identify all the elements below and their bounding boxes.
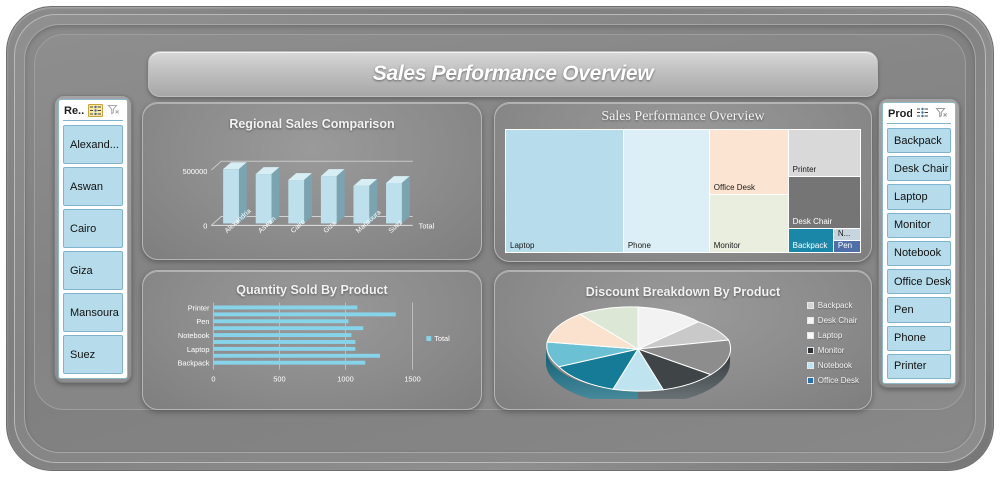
slicer-item-alexandria[interactable]: Alexand... — [63, 125, 123, 164]
legend-row-monitor[interactable]: Monitor — [807, 346, 859, 355]
hbar-office-desk — [213, 326, 363, 330]
hbar-backpack — [213, 361, 365, 365]
slicer-item-giza[interactable]: Giza — [63, 251, 123, 290]
slicer-item-office-desk[interactable]: Office Desk — [887, 269, 951, 294]
slicer-item-backpack[interactable]: Backpack — [887, 128, 951, 153]
category-labels: Printer Pen Notebook Laptop Backpack — [178, 303, 211, 367]
slicer-item-desk-chair[interactable]: Desk Chair — [887, 156, 951, 181]
legend-row-office-desk[interactable]: Office Desk — [807, 376, 859, 385]
x-tick-1000: 1000 — [337, 374, 353, 383]
y-tick-min: 0 — [203, 221, 207, 230]
hbar-printer — [213, 306, 357, 310]
chart-title-treemap: Sales Performance Overview — [495, 109, 871, 125]
legend-label-desk-chair: Desk Chair — [818, 316, 858, 325]
legend-row-laptop[interactable]: Laptop — [807, 331, 859, 340]
series-label-total: Total — [419, 221, 435, 230]
region-slicer-header: Re... — [63, 103, 123, 121]
cat-backpack: Backpack — [178, 359, 210, 368]
treemap-cell-monitor[interactable]: Monitor — [710, 195, 788, 252]
legend-row-desk-chair[interactable]: Desk Chair — [807, 316, 859, 325]
treemap-cell-office-desk[interactable]: Office Desk — [710, 130, 788, 194]
slicer-item-pen[interactable]: Pen — [887, 297, 951, 322]
cat-pen: Pen — [196, 317, 209, 326]
hbar-phone — [213, 312, 395, 316]
legend-label-notebook: Notebook — [818, 361, 852, 370]
legend-swatch-total — [426, 336, 431, 341]
slicer-item-notebook[interactable]: Notebook — [887, 241, 951, 266]
region-slicer-title: Re... — [64, 105, 84, 117]
hbar-desk-chair — [213, 354, 380, 358]
treemap-cell-desk-chair[interactable]: Desk Chair — [789, 177, 860, 229]
legend-label-backpack: Backpack — [818, 301, 853, 310]
chart-panel-discount-pie[interactable]: Discount Breakdown By Product — [494, 270, 872, 410]
cat-laptop: Laptop — [187, 345, 210, 354]
cat-printer: Printer — [188, 303, 210, 312]
region-slicer-items[interactable]: Alexand... Aswan Cairo Giza Mansoura Sue… — [63, 125, 123, 374]
hbar-notebook — [213, 333, 351, 337]
hbar-monitor — [213, 340, 355, 344]
hbar-pen — [213, 319, 348, 323]
bar-giza — [321, 169, 345, 223]
page-title: Sales Performance Overview — [373, 62, 654, 86]
dashboard-root: Sales Performance Overview Re... — [0, 0, 1000, 477]
x-tick-1500: 1500 — [404, 374, 420, 383]
legend-swatch-notebook — [807, 362, 814, 369]
chart-panel-treemap[interactable]: Sales Performance Overview Laptop Phone … — [494, 102, 872, 262]
legend-swatch-monitor — [807, 347, 814, 354]
chart-panel-regional-sales[interactable]: Regional Sales Comparison 500000 0 Total — [142, 102, 482, 260]
pie-chart[interactable] — [513, 299, 763, 399]
legend-label-total: Total — [434, 334, 450, 343]
slicer-item-cairo[interactable]: Cairo — [63, 209, 123, 248]
pie-slices — [547, 307, 731, 391]
bar-group — [213, 306, 395, 365]
bar-cairo — [288, 173, 312, 223]
sort-icon[interactable] — [916, 107, 931, 120]
legend-row-backpack[interactable]: Backpack — [807, 301, 859, 310]
cat-notebook: Notebook — [178, 331, 210, 340]
product-slicer[interactable]: Prod... — [878, 98, 960, 388]
legend-label-office-desk: Office Desk — [818, 376, 859, 385]
legend-swatch-desk-chair — [807, 317, 814, 324]
legend-label-monitor: Monitor — [818, 346, 845, 355]
chart-panel-quantity-sold[interactable]: Quantity Sold By Product — [142, 270, 482, 410]
legend-label-laptop: Laptop — [818, 331, 842, 340]
region-slicer[interactable]: Re... — [54, 95, 132, 383]
treemap-cell-laptop[interactable]: Laptop — [506, 130, 623, 252]
hbar-chart[interactable]: Printer Pen Notebook Laptop Backpack 0 5… — [143, 271, 481, 409]
chart-title-discount-pie: Discount Breakdown By Product — [495, 285, 871, 299]
slicer-item-suez[interactable]: Suez — [63, 335, 123, 374]
x-tick-500: 500 — [273, 374, 285, 383]
x-tick-labels: 0 500 1000 1500 — [211, 374, 420, 383]
clear-filter-icon[interactable] — [935, 107, 950, 120]
category-labels: Alexandria Aswan Cairo Giza Mansoura Sue… — [224, 208, 405, 235]
treemap-chart[interactable]: Laptop Phone Office Desk Monitor Printer — [505, 129, 861, 253]
legend-swatch-laptop — [807, 332, 814, 339]
x-tick-0: 0 — [211, 374, 215, 383]
chart-legend: Total — [426, 334, 450, 343]
clear-filter-icon[interactable] — [107, 104, 122, 117]
sort-icon[interactable] — [88, 104, 103, 117]
legend-row-notebook[interactable]: Notebook — [807, 361, 859, 370]
slicer-item-printer[interactable]: Printer — [887, 354, 951, 379]
treemap-cell-printer[interactable]: Printer — [789, 130, 860, 176]
y-tick-max: 500000 — [183, 167, 208, 176]
product-slicer-header: Prod... — [887, 106, 951, 124]
legend-swatch-backpack — [807, 302, 814, 309]
treemap-cell-phone[interactable]: Phone — [624, 130, 709, 252]
slicer-item-aswan[interactable]: Aswan — [63, 167, 123, 206]
bar3d-chart[interactable]: 500000 0 Total — [143, 103, 481, 259]
bar-aswan — [256, 167, 280, 223]
treemap-cell-notebook[interactable]: N... — [834, 229, 860, 240]
treemap-cell-pen[interactable]: Pen — [834, 241, 860, 252]
treemap-row-small: Backpack N... Pen — [789, 229, 860, 252]
pie-legend[interactable]: Backpack Desk Chair Laptop Monitor Noteb… — [807, 301, 859, 385]
product-slicer-title: Prod... — [888, 108, 912, 120]
legend-swatch-office-desk — [807, 377, 814, 384]
bar-suez — [386, 176, 410, 223]
treemap-cell-backpack[interactable]: Backpack — [789, 229, 833, 252]
dashboard-title-banner: Sales Performance Overview — [148, 51, 878, 97]
slicer-item-monitor[interactable]: Monitor — [887, 213, 951, 238]
slicer-item-phone[interactable]: Phone — [887, 326, 951, 351]
product-slicer-items[interactable]: Backpack Desk Chair Laptop Monitor Noteb… — [887, 128, 951, 379]
slicer-item-mansoura[interactable]: Mansoura — [63, 293, 123, 332]
hbar-laptop — [213, 347, 355, 351]
slicer-item-laptop[interactable]: Laptop — [887, 184, 951, 209]
